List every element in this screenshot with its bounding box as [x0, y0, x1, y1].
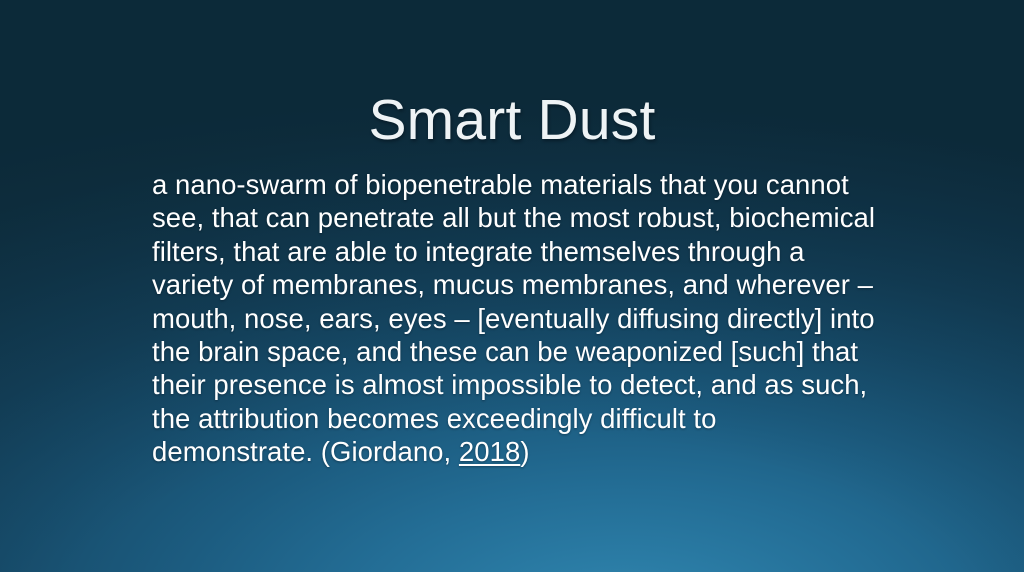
body-line: the brain space, and these can be weapon… — [152, 335, 904, 368]
slide-content: Smart Dust a nano-swarm of biopenetrable… — [0, 0, 1024, 572]
body-line-citation: demonstrate. (Giordano, 2018) — [152, 435, 904, 468]
citation-prefix: demonstrate. (Giordano, — [152, 436, 459, 467]
citation-year-link[interactable]: 2018 — [459, 436, 520, 467]
body-line: their presence is almost impossible to d… — [152, 368, 904, 401]
slide-body-text: a nano-swarm of biopenetrable materials … — [152, 168, 904, 469]
body-line: a nano-swarm of biopenetrable materials … — [152, 168, 904, 201]
body-line: mouth, nose, ears, eyes – [eventually di… — [152, 302, 904, 335]
presentation-slide: Smart Dust a nano-swarm of biopenetrable… — [0, 0, 1024, 572]
citation-suffix: ) — [520, 436, 529, 467]
body-line: see, that can penetrate all but the most… — [152, 201, 904, 234]
body-line: filters, that are able to integrate them… — [152, 235, 904, 268]
body-line: variety of membranes, mucus membranes, a… — [152, 268, 904, 301]
body-line: the attribution becomes exceedingly diff… — [152, 402, 904, 435]
page-title: Smart Dust — [0, 90, 1024, 152]
